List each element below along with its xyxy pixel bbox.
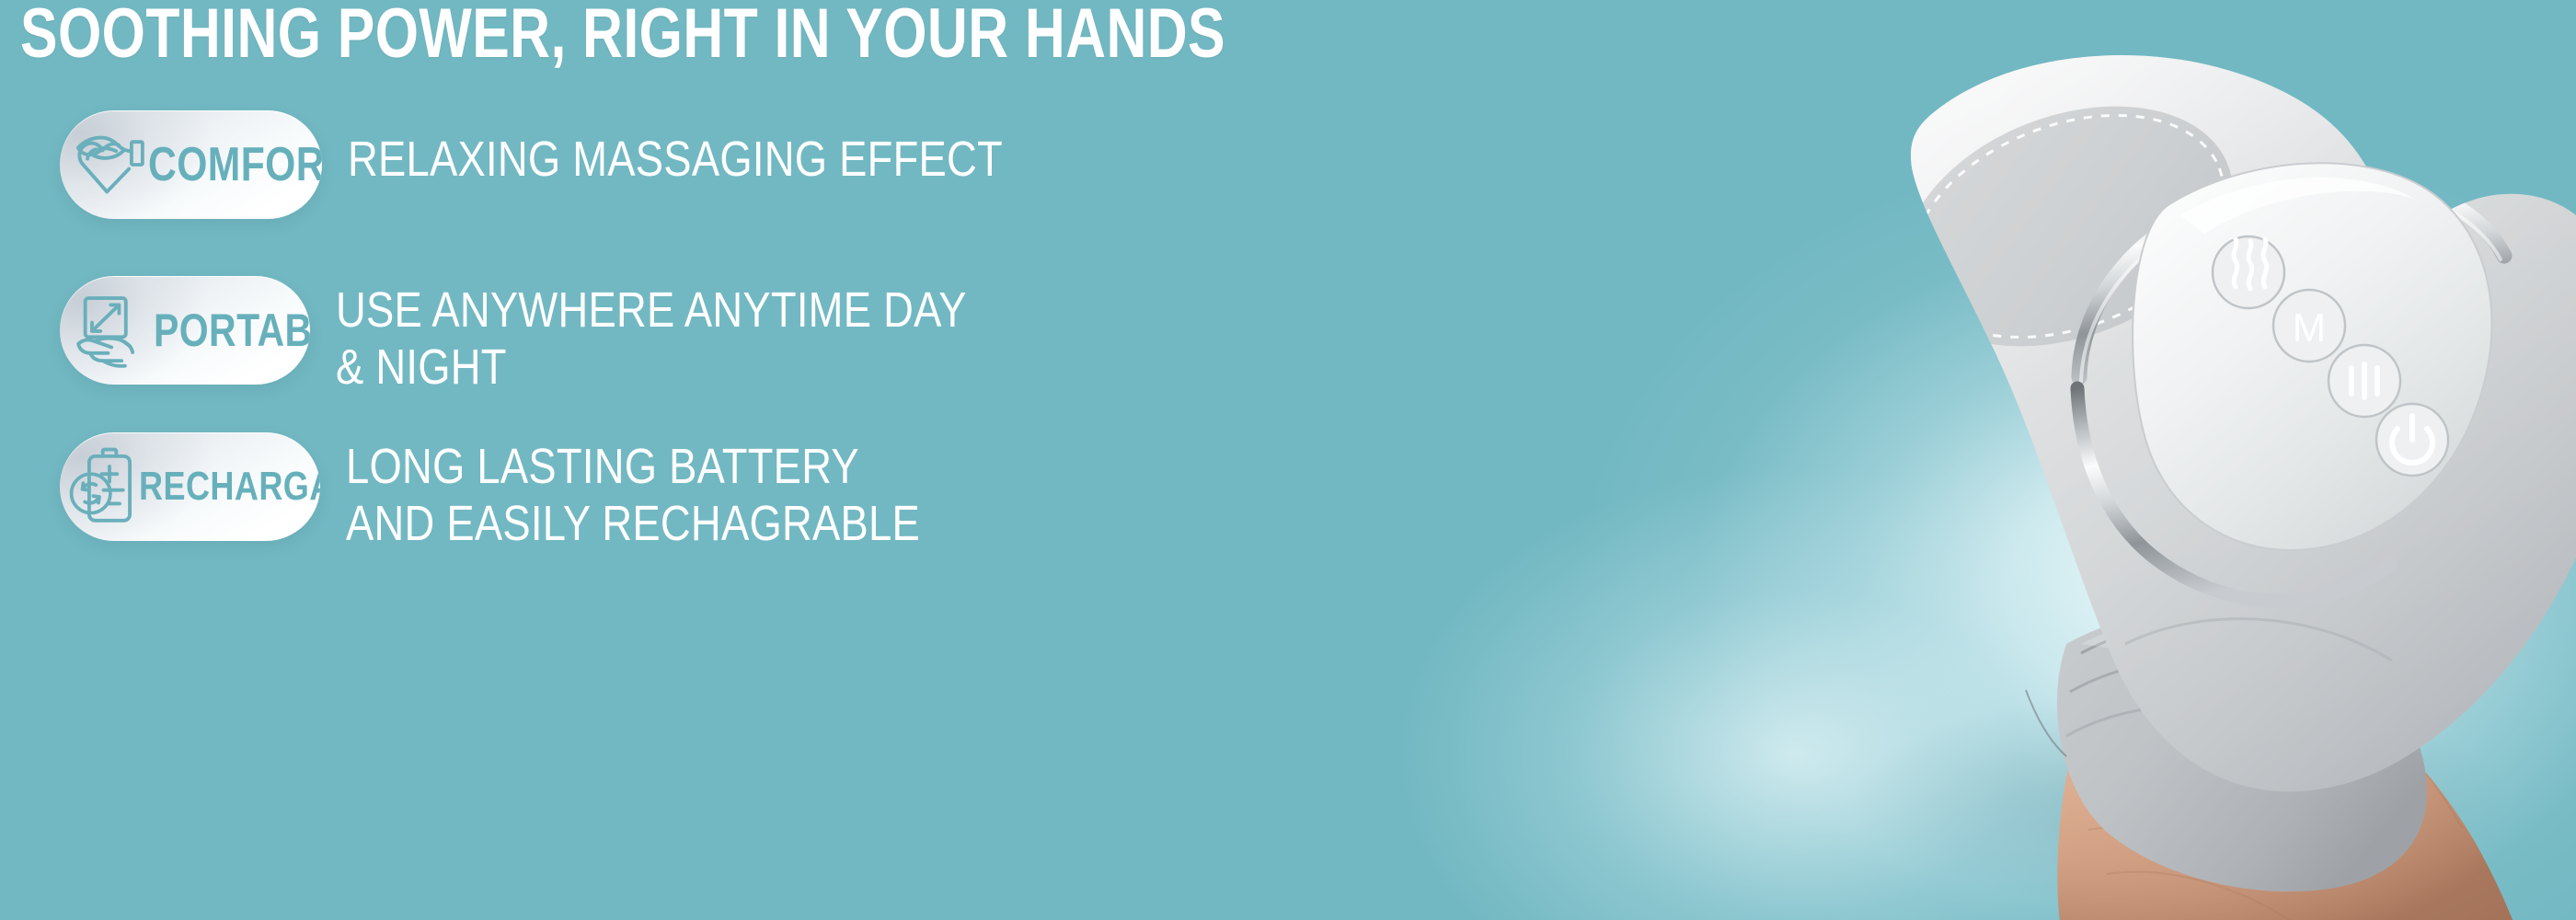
feature-label: COMFORT: [148, 141, 322, 189]
feature-label: PORTABLE: [154, 306, 310, 354]
promo-banner: M: [0, 0, 2576, 920]
heat-button: [2213, 236, 2284, 308]
feature-row-rechargable: RECHARGABLE LONG LASTING BATTERY AND EAS…: [0, 432, 1029, 552]
hand-massager-product-image: M: [1665, 9, 2576, 920]
control-panel: M: [2133, 163, 2491, 550]
feature-pill-portable[interactable]: PORTABLE: [60, 276, 310, 385]
intensity-bars-icon: [2352, 364, 2377, 397]
stitched-pad: [1869, 62, 2267, 390]
feature-pill-comfort[interactable]: COMFORT: [60, 110, 322, 219]
mode-button: M: [2273, 290, 2345, 362]
feature-pill-rechargable[interactable]: RECHARGABLE: [60, 432, 320, 541]
hand-holding-expand-square-icon: [71, 288, 155, 373]
control-buttons: M: [2213, 236, 2448, 476]
feature-row-portable: PORTABLE USE ANYWHERE ANYTIME DAY & NIGH…: [0, 276, 1087, 396]
hand-holding-heart-icon: [67, 122, 152, 207]
forearm: [2057, 653, 2516, 920]
letter-m-icon: M: [2293, 305, 2327, 351]
intensity-button: [2329, 345, 2400, 417]
device-body: M: [1869, 55, 2576, 791]
device-cuff: [2057, 610, 2427, 891]
background-glow: [1325, 0, 2576, 920]
heat-waves-icon: [2234, 239, 2267, 289]
power-icon: [2392, 416, 2432, 463]
power-button: [2376, 404, 2448, 476]
background-glow-secondary: [1288, 386, 2300, 920]
page-title: SOOTHING POWER, RIGHT IN YOUR HANDS: [20, 0, 1225, 70]
feature-row-comfort: COMFORT RELAXING MASSAGING EFFECT: [0, 110, 1128, 219]
feature-description: RELAXING MASSAGING EFFECT: [348, 110, 1003, 188]
feature-description: USE ANYWHERE ANYTIME DAY & NIGHT: [336, 276, 967, 396]
feature-description: LONG LASTING BATTERY AND EASILY RECHAGRA…: [346, 432, 920, 552]
feature-label: RECHARGABLE: [139, 463, 320, 511]
